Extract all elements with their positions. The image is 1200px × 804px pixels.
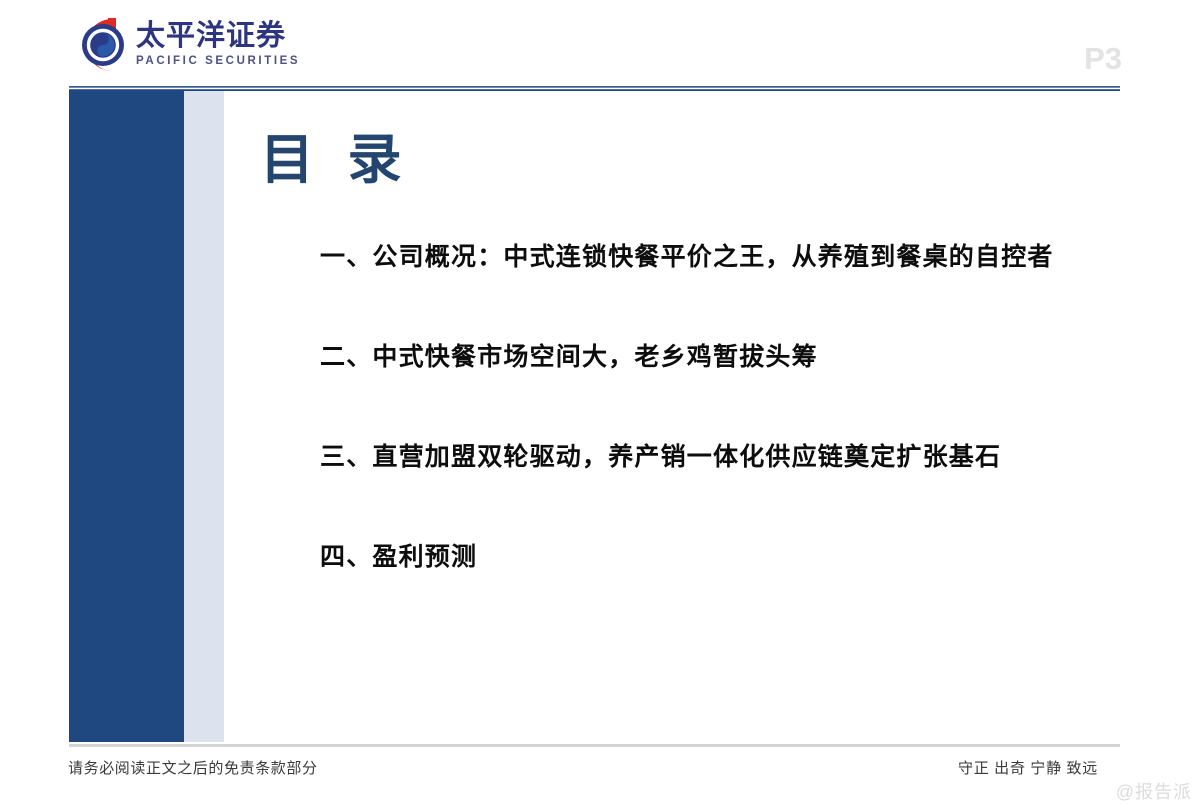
footer-disclaimer: 请务必阅读正文之后的免责条款部分 [68,757,318,778]
slide-content: 目 录 一、公司概况：中式连锁快餐平价之王，从养殖到餐桌的自控者 二、中式快餐市… [224,91,1120,742]
list-item[interactable]: 四、盈利预测 [320,543,1110,573]
slide-root: 太平洋证券 PACIFIC SECURITIES P3 目 录 一、公司概况：中… [0,0,1200,804]
logo-wordmark: 太平洋证券 PACIFIC SECURITIES [136,22,300,68]
logo-company-name-cn: 太平洋证券 [136,22,300,51]
company-logo: 太平洋证券 PACIFIC SECURITIES [72,16,300,74]
table-of-contents-list: 一、公司概况：中式连锁快餐平价之王，从养殖到餐桌的自控者 二、中式快餐市场空间大… [320,243,1110,573]
page-number: P3 [1084,43,1122,74]
pacific-securities-swirl-logo [72,16,128,74]
page-title: 目 录 [260,133,412,187]
footer-slogan: 守正 出奇 宁静 致远 [958,757,1098,778]
logo-company-name-en: PACIFIC SECURITIES [136,56,300,68]
sidebar-accent-dark [69,91,184,742]
sidebar-accent-light [184,91,224,742]
list-item[interactable]: 一、公司概况：中式连锁快餐平价之王，从养殖到餐桌的自控者 [320,243,1110,273]
footer-divider-line [69,744,1120,747]
list-item[interactable]: 二、中式快餐市场空间大，老乡鸡暂拔头筹 [320,343,1110,373]
list-item[interactable]: 三、直营加盟双轮驱动，养产销一体化供应链奠定扩张基石 [320,443,1110,473]
watermark: @报告派 [1116,778,1192,804]
slide-header: 太平洋证券 PACIFIC SECURITIES P3 [0,0,1200,88]
